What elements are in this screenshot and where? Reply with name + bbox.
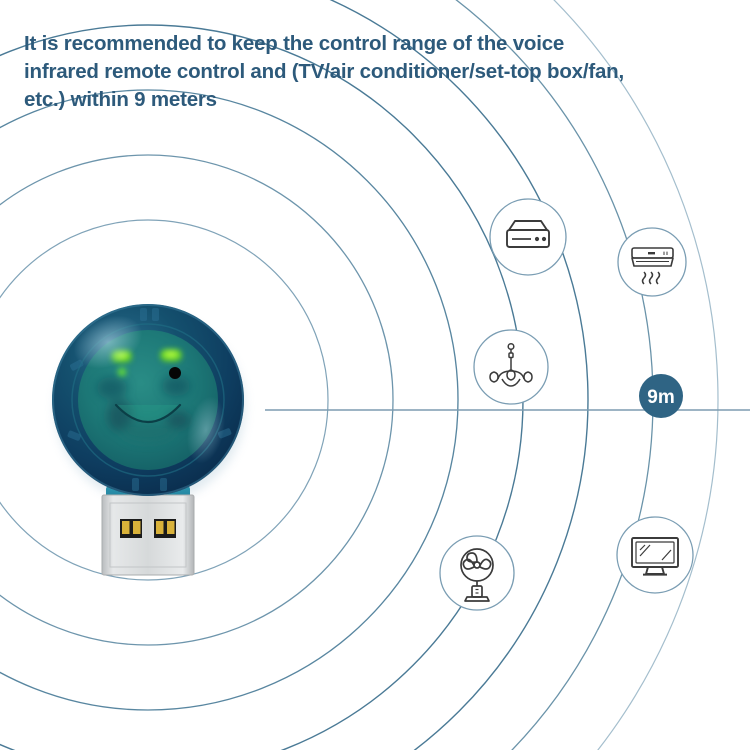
distance-badge-label: 9m: [647, 387, 674, 408]
led-dot-small: [118, 368, 127, 377]
appliance-television[interactable]: [617, 517, 693, 593]
device-usb-connector: [102, 495, 194, 575]
set-top-box-circle: [490, 199, 566, 275]
page-headline: It is recommended to keep the control ra…: [24, 30, 730, 114]
distance-badge: 9m: [639, 374, 683, 418]
appliance-air-conditioner[interactable]: [618, 228, 686, 296]
fan-circle: [440, 536, 514, 610]
appliance-set-top-box[interactable]: [490, 199, 566, 275]
product-infographic-page: It is recommended to keep the control ra…: [0, 0, 750, 750]
television-circle: [617, 517, 693, 593]
appliance-fan[interactable]: [440, 536, 514, 610]
device-ir-sensor-dot: [169, 367, 181, 379]
appliance-chandelier[interactable]: [474, 330, 548, 404]
device-usb-infrared-blaster: [52, 304, 245, 575]
led-bar-right: [160, 349, 182, 362]
